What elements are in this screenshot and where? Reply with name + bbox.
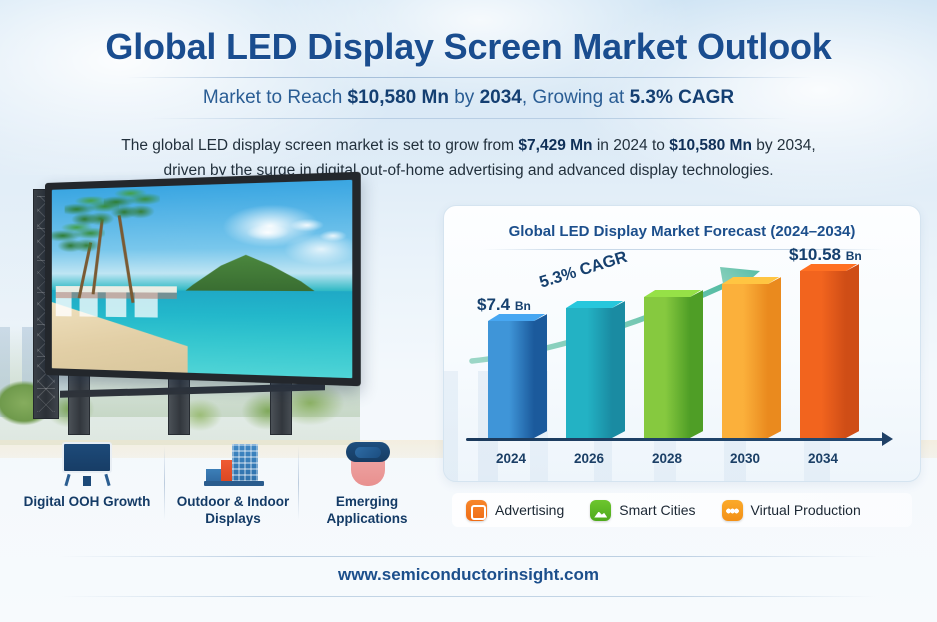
bar-side-face bbox=[612, 301, 625, 438]
feature-divider bbox=[298, 446, 299, 520]
feature-item-outdoor-indoor[interactable]: Outdoor & Indoor Displays bbox=[160, 440, 306, 527]
billboard-screen bbox=[52, 180, 352, 378]
x-axis-tick-label: 2026 bbox=[554, 451, 624, 466]
feature-item-emerging-apps[interactable]: Emerging Applications bbox=[294, 440, 440, 527]
subtitle-part-3: , Growing at bbox=[522, 87, 630, 108]
subtitle: Market to Reach $10,580 Mn by 2034, Grow… bbox=[0, 87, 937, 109]
bar-value-label: $7.4 Bn bbox=[477, 295, 531, 315]
feature-label: Outdoor & Indoor Displays bbox=[160, 493, 306, 527]
lede-part-3: by 2034, bbox=[752, 137, 816, 154]
bar-value-label: $10.58 Bn bbox=[789, 245, 862, 265]
screen-palm-tree bbox=[96, 188, 169, 303]
feature-divider bbox=[164, 446, 165, 520]
legend-item-advertising[interactable]: Advertising bbox=[466, 500, 564, 521]
bar-side-face bbox=[690, 290, 703, 438]
subtitle-year: 2034 bbox=[480, 87, 522, 108]
footer-divider-top bbox=[60, 556, 877, 557]
lede-figure-2034: $10,580 Mn bbox=[669, 137, 752, 154]
chart-card: Global LED Display Market Forecast (2024… bbox=[443, 205, 921, 482]
chart-bar bbox=[800, 271, 846, 438]
smart-cities-icon bbox=[590, 500, 611, 521]
x-axis-tick-label: 2028 bbox=[632, 451, 702, 466]
footer-divider-bottom bbox=[60, 596, 877, 597]
billboard-frame bbox=[45, 172, 361, 387]
subtitle-divider bbox=[150, 118, 790, 119]
bar-side-face bbox=[534, 314, 547, 438]
bar-front-face bbox=[644, 297, 690, 438]
legend-label: Smart Cities bbox=[619, 502, 695, 518]
footer-website-link[interactable]: www.semiconductorinsight.com bbox=[0, 565, 937, 585]
chart-bar bbox=[644, 297, 690, 438]
lede-figure-2024: $7,429 Mn bbox=[518, 137, 592, 154]
feature-label: Digital OOH Growth bbox=[14, 493, 160, 510]
advertising-icon bbox=[466, 500, 487, 521]
x-axis-tick-label: 2024 bbox=[476, 451, 546, 466]
chart-bar bbox=[566, 308, 612, 438]
feature-label: Emerging Applications bbox=[294, 493, 440, 527]
chart-bar bbox=[488, 321, 534, 438]
chart-bar bbox=[722, 284, 768, 438]
bar-front-face bbox=[488, 321, 534, 438]
buildings-icon bbox=[198, 440, 268, 486]
x-axis-arrowhead bbox=[882, 432, 893, 446]
x-axis-tick-label: 2030 bbox=[710, 451, 780, 466]
lede-part-1: The global LED display screen market is … bbox=[121, 137, 518, 154]
legend-item-smart-cities[interactable]: Smart Cities bbox=[590, 500, 695, 521]
chart-legend: Advertising Smart Cities Virtual Product… bbox=[452, 493, 912, 527]
infographic-root: Global LED Display Screen Market Outlook… bbox=[0, 0, 937, 622]
legend-label: Virtual Production bbox=[751, 502, 861, 518]
virtual-production-icon bbox=[722, 500, 743, 521]
subtitle-figure-market: $10,580 Mn bbox=[348, 87, 449, 108]
legend-item-virtual-production[interactable]: Virtual Production bbox=[722, 500, 861, 521]
subtitle-cagr: 5.3% CAGR bbox=[630, 87, 735, 108]
bar-side-face bbox=[846, 264, 859, 438]
feature-list: Digital OOH Growth Outdoor & Indoor Disp… bbox=[8, 440, 438, 550]
vr-headset-icon bbox=[332, 440, 402, 486]
subtitle-part-1: Market to Reach bbox=[203, 87, 348, 108]
lede-part-2: in 2024 to bbox=[593, 137, 670, 154]
bar-side-face bbox=[768, 277, 781, 438]
bar-front-face bbox=[566, 308, 612, 438]
legend-label: Advertising bbox=[495, 502, 564, 518]
billboard-illustration bbox=[0, 175, 360, 445]
bar-front-face bbox=[800, 271, 846, 438]
monitor-icon bbox=[52, 440, 122, 486]
x-axis-line bbox=[466, 438, 884, 441]
header: Global LED Display Screen Market Outlook… bbox=[0, 0, 937, 190]
bar-front-face bbox=[722, 284, 768, 438]
screen-clouds bbox=[240, 211, 352, 250]
title-divider bbox=[126, 77, 812, 78]
x-axis-tick-label: 2034 bbox=[788, 451, 858, 466]
feature-item-digital-ooh[interactable]: Digital OOH Growth bbox=[14, 440, 160, 510]
bar-chart-plot: 5.3% CAGR 2024$7.4 Bn2026202820302034$10… bbox=[444, 206, 921, 482]
subtitle-part-2: by bbox=[449, 87, 480, 108]
page-title: Global LED Display Screen Market Outlook bbox=[0, 26, 937, 68]
